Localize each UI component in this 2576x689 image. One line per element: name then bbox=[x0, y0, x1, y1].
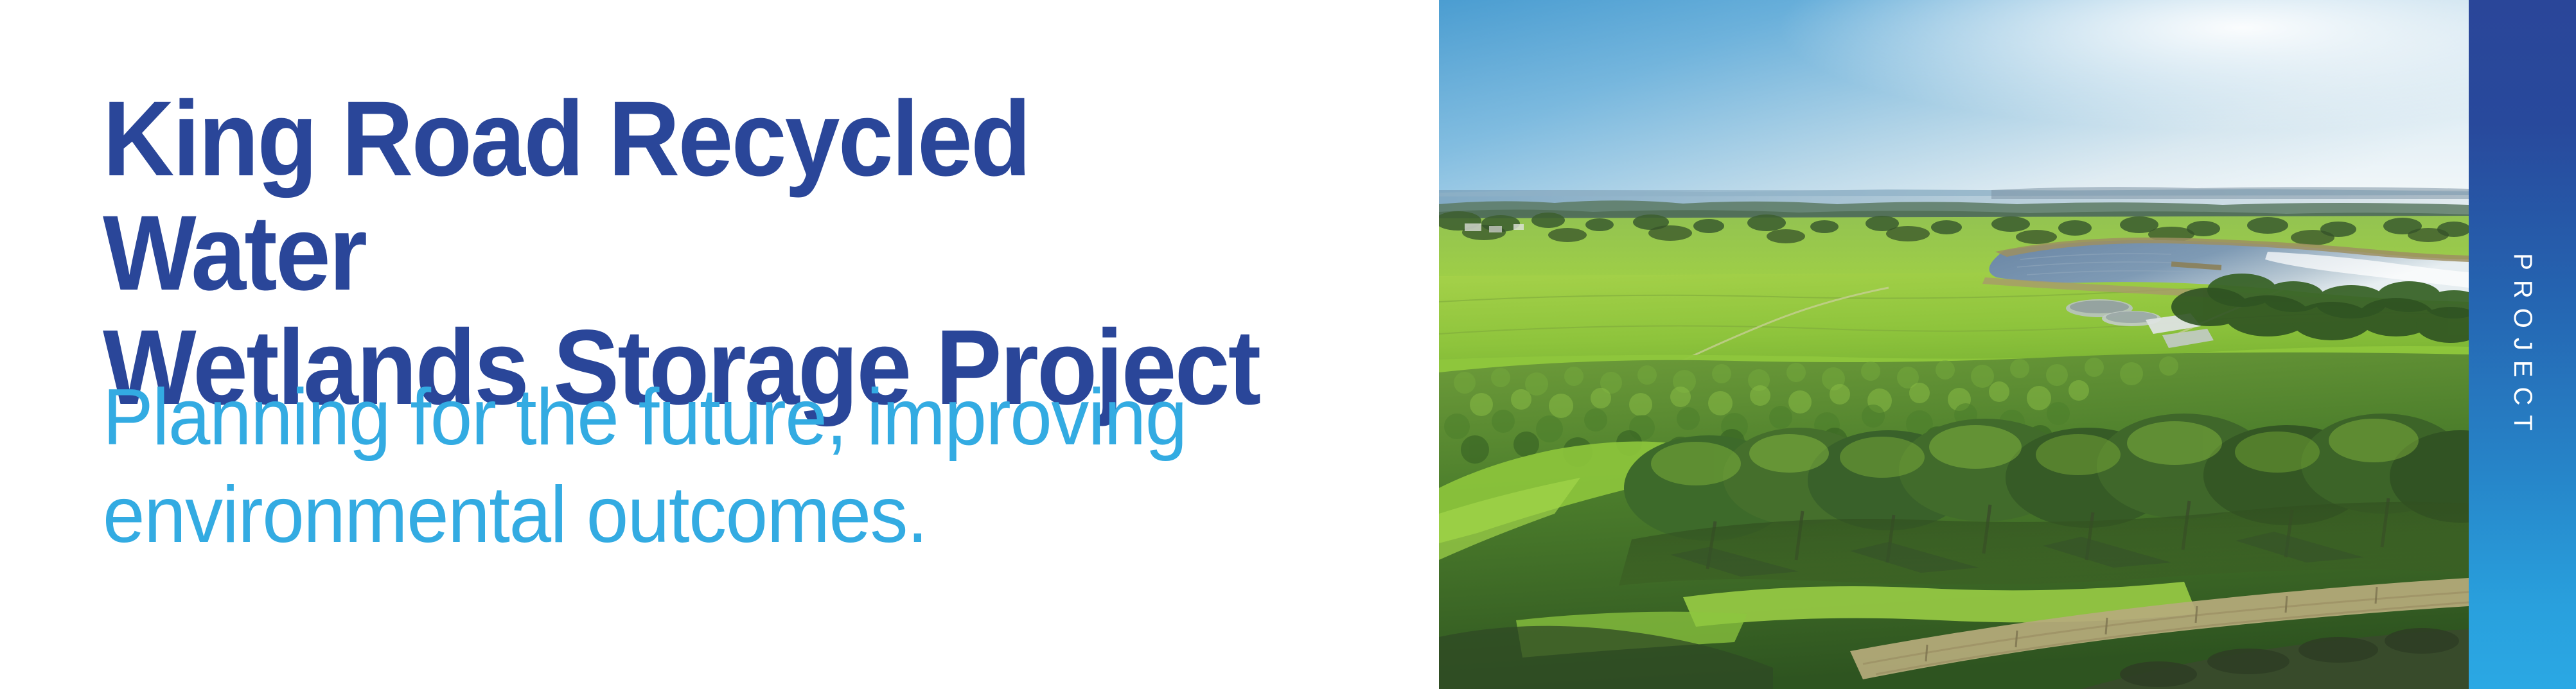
banner-text-panel: King Road Recycled Water Wetlands Storag… bbox=[0, 0, 1439, 689]
aerial-site-photo bbox=[1439, 0, 2469, 689]
project-side-tab[interactable]: PROJECT bbox=[2469, 0, 2576, 689]
project-banner: King Road Recycled Water Wetlands Storag… bbox=[0, 0, 2576, 689]
page-subtitle: Planning for the future, improving envir… bbox=[103, 369, 1342, 564]
aerial-site-photo-graphic bbox=[1439, 0, 2469, 689]
project-side-tab-label: PROJECT bbox=[2510, 253, 2536, 440]
